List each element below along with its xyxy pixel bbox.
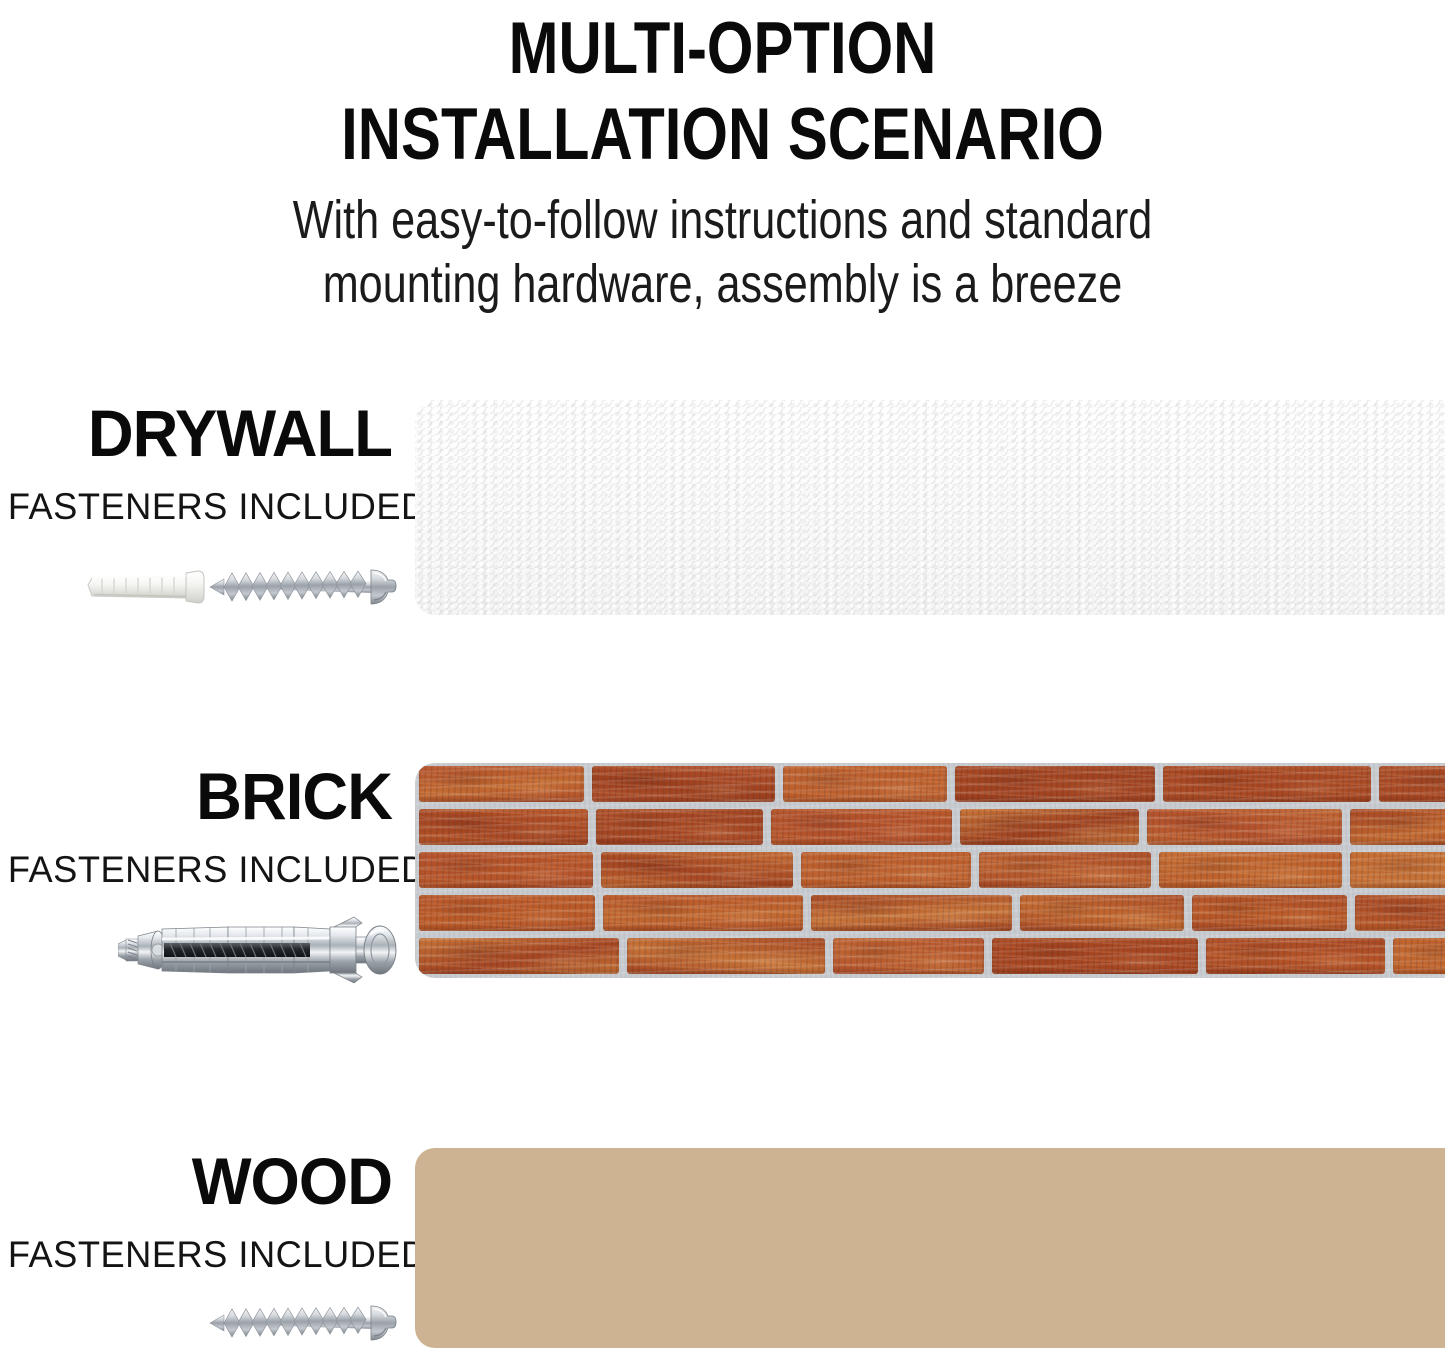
page-title: MULTI-OPTION INSTALLATION SCENARIO [130, 0, 1315, 178]
page-subtitle: With easy-to-follow instructions and sta… [145, 188, 1301, 316]
brick-unit [601, 852, 793, 888]
brick-unit [592, 766, 775, 802]
brick-unit [419, 766, 584, 802]
brick-course [415, 849, 1445, 892]
brick-unit [1192, 895, 1347, 931]
brick-unit [419, 809, 588, 845]
brick-unit [1379, 766, 1445, 802]
brick-unit [419, 938, 619, 974]
brick-unit [1020, 895, 1184, 931]
brick-course [415, 892, 1445, 935]
subtitle-line-2: mounting hardware, assembly is a breeze [145, 252, 1301, 316]
brick-course [415, 935, 1445, 978]
brick-course [415, 806, 1445, 849]
brick-unit [419, 895, 595, 931]
brick-fastener-area [0, 763, 400, 978]
brick-unit [596, 809, 763, 845]
material-row-wood: WOOD FASTENERS INCLUDED [0, 1148, 1445, 1348]
brick-surface-panel [415, 763, 1445, 978]
brick-unit [627, 938, 825, 974]
material-row-drywall: DRYWALL FASTENERS INCLUDED [0, 400, 1445, 615]
wood-fastener-area [0, 1148, 400, 1348]
brick-texture [415, 763, 1445, 978]
washer-head-screw-icon [208, 1300, 398, 1346]
brick-unit [1147, 809, 1342, 845]
brick-unit [801, 852, 971, 888]
brick-unit [979, 852, 1151, 888]
brick-unit [955, 766, 1155, 802]
brick-unit [1393, 938, 1445, 974]
drywall-fastener-area [0, 400, 400, 615]
brick-unit [960, 809, 1139, 845]
brick-course [415, 763, 1445, 806]
brick-unit [833, 938, 984, 974]
brick-unit [603, 895, 803, 931]
washer-head-screw-icon [208, 564, 398, 610]
drywall-texture [415, 400, 1445, 615]
wood-surface-panel [415, 1148, 1445, 1348]
drywall-surface-panel [415, 400, 1445, 615]
title-line-1: MULTI-OPTION [130, 6, 1315, 92]
infographic-page: MULTI-OPTION INSTALLATION SCENARIO With … [0, 0, 1445, 1367]
plastic-wall-anchor-icon [82, 565, 207, 609]
material-row-brick: BRICK FASTENERS INCLUDED [0, 763, 1445, 978]
brick-unit [992, 938, 1198, 974]
brick-unit [771, 809, 952, 845]
brick-unit [1350, 809, 1445, 845]
metal-hollow-wall-molly-anchor-icon [118, 915, 398, 987]
brick-unit [1350, 852, 1445, 888]
brick-unit [811, 895, 1012, 931]
brick-unit [1163, 766, 1371, 802]
wood-texture [415, 1148, 1445, 1348]
title-line-2: INSTALLATION SCENARIO [130, 92, 1315, 178]
subtitle-line-1: With easy-to-follow instructions and sta… [145, 188, 1301, 252]
brick-unit [1355, 895, 1445, 931]
brick-unit [783, 766, 947, 802]
brick-unit [419, 852, 593, 888]
brick-unit [1206, 938, 1385, 974]
header: MULTI-OPTION INSTALLATION SCENARIO With … [0, 0, 1445, 316]
brick-unit [1159, 852, 1342, 888]
